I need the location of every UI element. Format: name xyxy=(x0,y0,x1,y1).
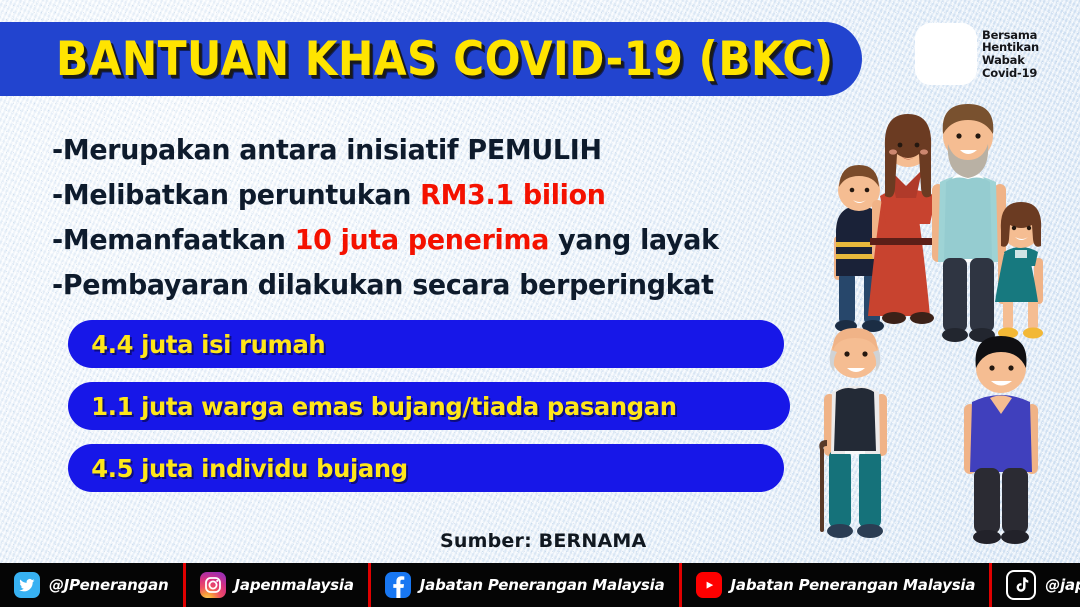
people-illustration xyxy=(812,92,1080,562)
girl-figure xyxy=(995,202,1043,339)
bullet-tail: yang layak xyxy=(549,223,719,256)
bullet-text: -Merupakan antara inisiatif PEMULIH xyxy=(52,133,602,166)
logo-line-4: Covid-19 xyxy=(982,67,1039,80)
stat-pill-label: 4.5 juta individu bujang xyxy=(68,454,408,483)
bullet-text: -Pembayaran dilakukan secara berperingka… xyxy=(52,268,714,301)
bullet-text: -Melibatkan peruntukan xyxy=(52,178,420,211)
bullet-item: -Memanfaatkan 10 juta penerima yang laya… xyxy=(52,217,820,262)
social-label: Jabatan Penerangan Malaysia xyxy=(420,576,665,594)
bullet-item: -Melibatkan peruntukan RM3.1 bilion xyxy=(52,172,820,217)
tiktok-icon xyxy=(1006,570,1036,600)
social-youtube[interactable]: Jabatan Penerangan Malaysia xyxy=(682,563,990,607)
bullet-list: -Merupakan antara inisiatif PEMULIH -Mel… xyxy=(52,127,852,307)
social-instagram[interactable]: Japenmalaysia xyxy=(186,563,368,607)
youtube-icon xyxy=(696,572,722,598)
social-label: @JPenerangan xyxy=(49,576,169,594)
twitter-icon xyxy=(14,572,40,598)
social-facebook[interactable]: Jabatan Penerangan Malaysia xyxy=(371,563,679,607)
logo-line-3: Wabak xyxy=(982,54,1039,67)
social-twitter[interactable]: @JPenerangan xyxy=(0,563,183,607)
bersama-hentikan-wabak-icon xyxy=(915,23,977,85)
stat-pill-label: 1.1 juta warga emas bujang/tiada pasanga… xyxy=(68,392,677,421)
social-tiktok[interactable]: @japentv xyxy=(992,563,1080,607)
stat-pill-senior-citizens: 1.1 juta warga emas bujang/tiada pasanga… xyxy=(68,382,790,430)
infographic-canvas: BANTUAN KHAS COVID-19 (BKC) xyxy=(0,0,1080,607)
bullet-item: -Pembayaran dilakukan secara berperingka… xyxy=(52,262,820,307)
source-credit: Sumber: BERNAMA xyxy=(440,530,646,552)
page-title: BANTUAN KHAS COVID-19 (BKC) xyxy=(56,24,776,94)
stat-pill-single-individuals: 4.5 juta individu bujang xyxy=(68,444,784,492)
bullet-item: -Merupakan antara inisiatif PEMULIH xyxy=(52,127,820,172)
campaign-logo: Bersama Hentikan Wabak Covid-19 xyxy=(915,20,1067,88)
social-label: Jabatan Penerangan Malaysia xyxy=(731,576,976,594)
father-figure xyxy=(932,104,1006,342)
instagram-icon xyxy=(200,572,226,598)
social-footer: @JPenerangan Japenmalaysia Jabatan Pener… xyxy=(0,563,1080,607)
bullet-highlight: 10 juta penerima xyxy=(295,223,549,256)
social-label: Japenmalaysia xyxy=(235,576,354,594)
stat-pill-households: 4.4 juta isi rumah xyxy=(68,320,784,368)
bullet-highlight: RM3.1 bilion xyxy=(420,178,605,211)
stat-pill-label: 4.4 juta isi rumah xyxy=(68,330,325,359)
social-label: @japentv xyxy=(1045,576,1080,594)
logo-text: Bersama Hentikan Wabak Covid-19 xyxy=(982,29,1039,79)
bullet-text: -Memanfaatkan xyxy=(52,223,295,256)
elderly-man-figure xyxy=(819,328,887,538)
facebook-icon xyxy=(385,572,411,598)
young-man-figure xyxy=(964,336,1038,544)
